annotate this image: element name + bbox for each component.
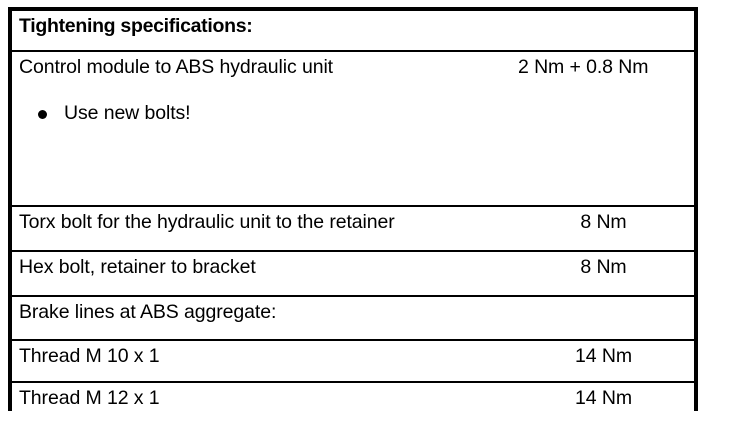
- page-title: Tightening specifications:: [12, 11, 513, 41]
- table-header-row: Tightening specifications:: [12, 11, 694, 51]
- cell-torque-torx-bolt: 8 Nm: [513, 206, 694, 251]
- torque-value: 14 Nm: [513, 383, 694, 413]
- table-row: Thread M 10 x 1 14 Nm: [12, 340, 694, 382]
- spec-table: Tightening specifications: Control modul…: [12, 11, 694, 423]
- cell-description-brake-lines: Brake lines at ABS aggregate:: [12, 296, 513, 340]
- description-text: Thread M 10 x 1: [12, 341, 513, 371]
- cell-torque-hex-bolt: 8 Nm: [513, 251, 694, 296]
- cell-description-control-module: Control module to ABS hydraulic unit Use…: [12, 51, 513, 206]
- list-item: Use new bolts!: [12, 102, 513, 125]
- header-cell-torque: [513, 11, 694, 51]
- tightening-specifications-table: Tightening specifications: Control modul…: [8, 7, 698, 411]
- header-cell-description: Tightening specifications:: [12, 11, 513, 51]
- header-torque-value: [513, 11, 694, 19]
- torque-value: [513, 297, 694, 305]
- description-text: Thread M 12 x 1: [12, 383, 513, 413]
- cell-torque-thread-m12: 14 Nm: [513, 382, 694, 423]
- cell-description-thread-m12: Thread M 12 x 1: [12, 382, 513, 423]
- cell-torque-control-module: 2 Nm + 0.8 Nm: [513, 51, 694, 206]
- description-text: Brake lines at ABS aggregate:: [12, 297, 513, 327]
- cell-description-hex-bolt: Hex bolt, retainer to bracket: [12, 251, 513, 296]
- note-text: Use new bolts!: [64, 102, 191, 124]
- cell-torque-brake-lines: [513, 296, 694, 340]
- torque-value: 8 Nm: [513, 252, 694, 282]
- torque-value: 14 Nm: [513, 341, 694, 371]
- description-text: Torx bolt for the hydraulic unit to the …: [12, 207, 513, 237]
- table-row: Control module to ABS hydraulic unit Use…: [12, 51, 694, 206]
- description-text: Control module to ABS hydraulic unit: [12, 52, 513, 82]
- table-row: Torx bolt for the hydraulic unit to the …: [12, 206, 694, 251]
- cell-torque-thread-m10: 14 Nm: [513, 340, 694, 382]
- table-row: Hex bolt, retainer to bracket 8 Nm: [12, 251, 694, 296]
- cell-description-torx-bolt: Torx bolt for the hydraulic unit to the …: [12, 206, 513, 251]
- torque-value: 8 Nm: [513, 207, 694, 237]
- description-text: Hex bolt, retainer to bracket: [12, 252, 513, 282]
- bullet-dot-icon: [38, 110, 47, 119]
- table-row: Thread M 12 x 1 14 Nm: [12, 382, 694, 423]
- table-row: Brake lines at ABS aggregate:: [12, 296, 694, 340]
- torque-value: 2 Nm + 0.8 Nm: [513, 52, 694, 82]
- notes-list: Use new bolts!: [12, 102, 513, 125]
- cell-description-thread-m10: Thread M 10 x 1: [12, 340, 513, 382]
